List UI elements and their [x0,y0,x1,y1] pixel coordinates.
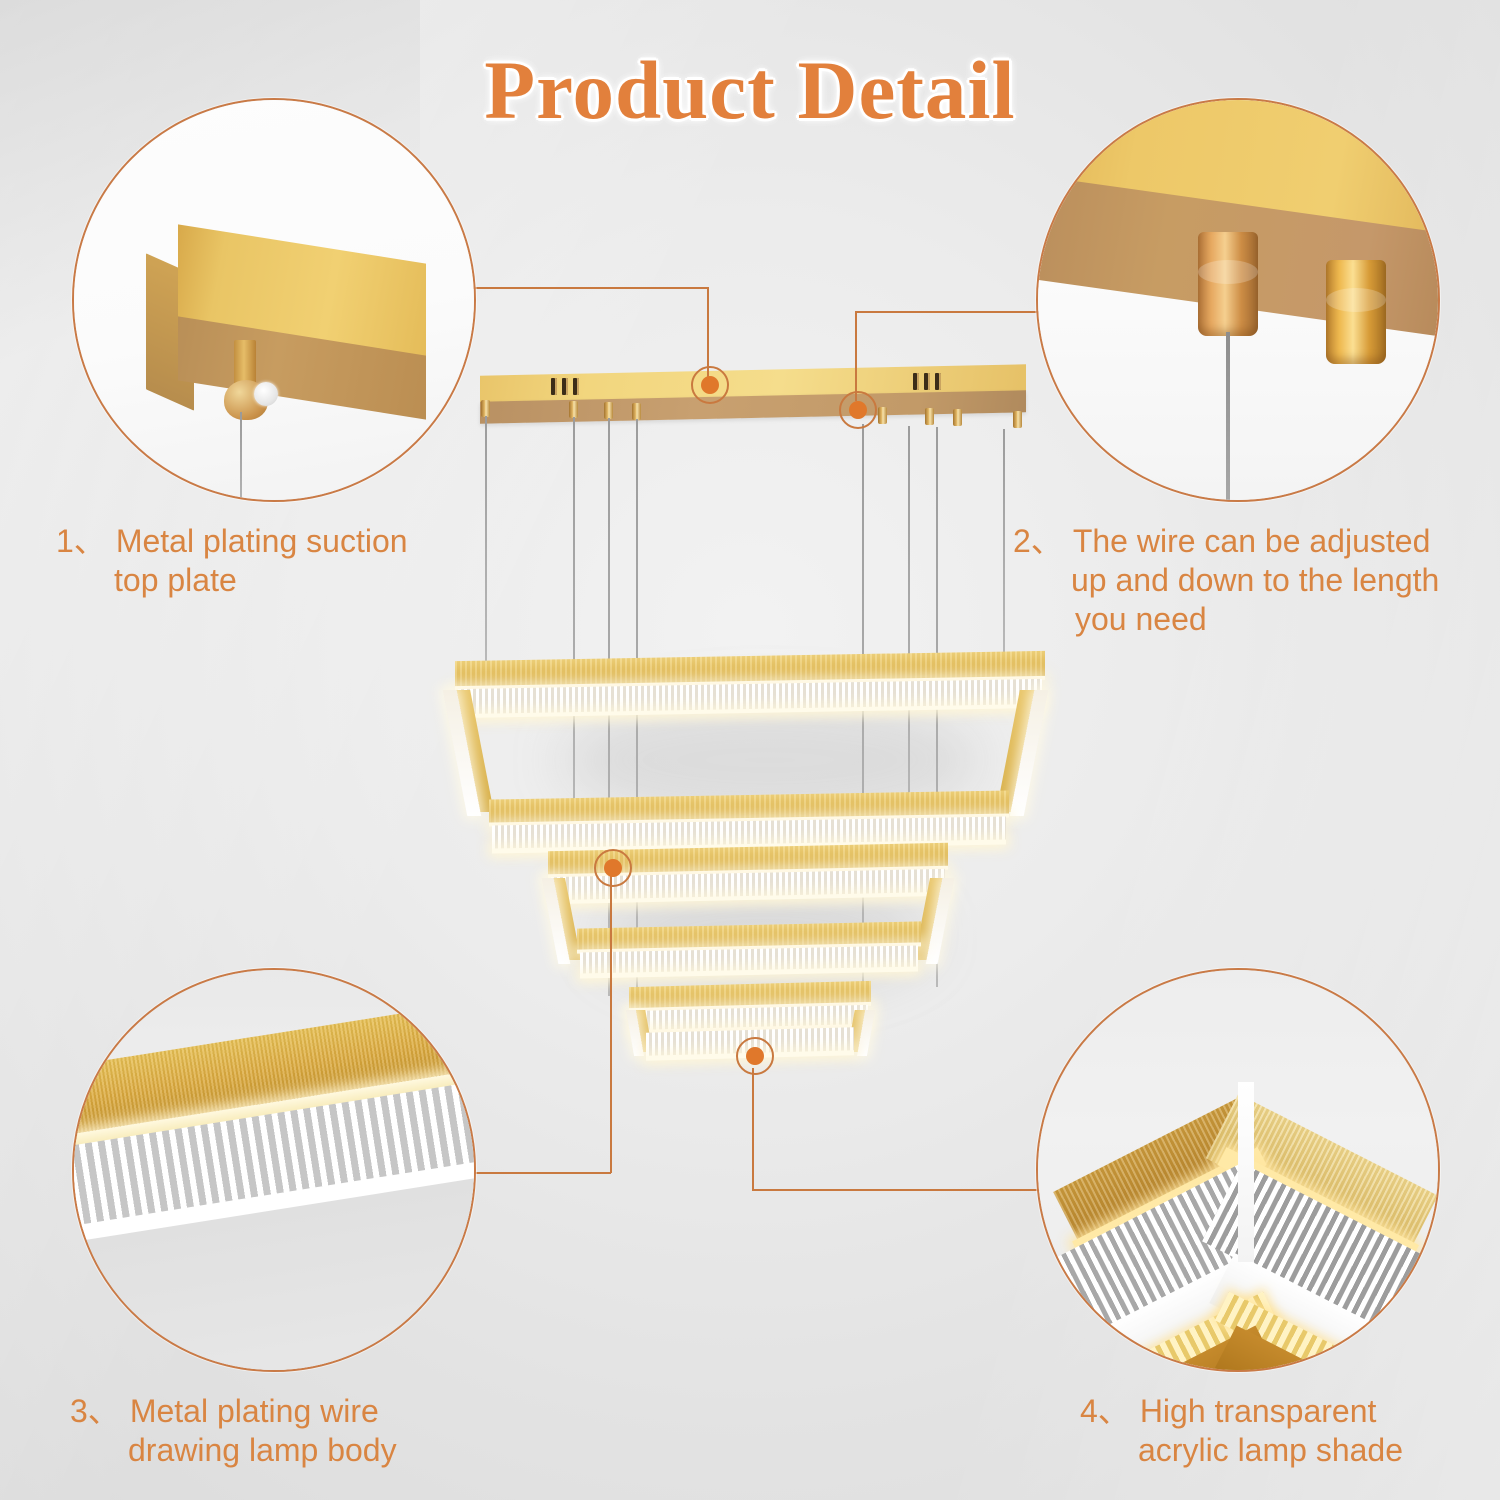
callout-text-3-line2: drawing lamp body [128,1431,520,1470]
callout-label-3: 3、Metal plating wire drawing lamp body [70,1392,520,1470]
wire-adjuster-photo [1036,98,1440,502]
connector-line-2-vertical [855,311,857,401]
callout-number-2: 2、 [1013,522,1063,561]
wall-shadow-mid [600,880,930,990]
wall-shadow-top [560,700,980,820]
callout-text-4-line2: acrylic lamp shade [1138,1431,1500,1470]
callout-dot-1[interactable] [691,366,729,404]
callout-text-3-line1: Metal plating wire [130,1393,379,1429]
callout-label-4: 4、High transparent acrylic lamp shade [1080,1392,1500,1470]
connector-line-1-horizontal [460,287,708,289]
callout-number-4: 4、 [1080,1392,1130,1431]
canopy-vent-right [913,373,941,390]
connector-line-3-vertical [610,866,612,1173]
callout-label-1: 1、Metal plating suction top plate [56,522,506,600]
canopy-mounting-plate-photo [72,98,476,502]
callout-text-2-line2: up and down to the length [1071,561,1483,600]
connector-line-4-horizontal [752,1189,1040,1191]
callout-text-2-line1: The wire can be adjusted [1073,523,1431,559]
callout-text-1-line1: Metal plating suction [116,523,408,559]
callout-text-2-line3: you need [1075,600,1483,639]
callout-label-2: 2、The wire can be adjusted up and down t… [1013,522,1483,639]
callout-dot-4[interactable] [736,1037,774,1075]
callout-dot-3[interactable] [594,849,632,887]
connector-line-2-horizontal [855,311,1043,313]
callout-text-1-line2: top plate [114,561,506,600]
canopy-vent-left [551,378,579,395]
connector-line-3-horizontal [470,1172,611,1174]
product-detail-infographic: Product Detail [0,0,1500,1500]
callout-text-4-line1: High transparent [1140,1393,1377,1429]
brushed-gold-body-photo [72,968,476,1372]
callout-number-1: 1、 [56,522,106,561]
acrylic-shade-corner-photo [1036,968,1440,1372]
callout-number-3: 3、 [70,1392,120,1431]
callout-dot-2[interactable] [839,391,877,429]
connector-line-4-vertical [752,1068,754,1190]
